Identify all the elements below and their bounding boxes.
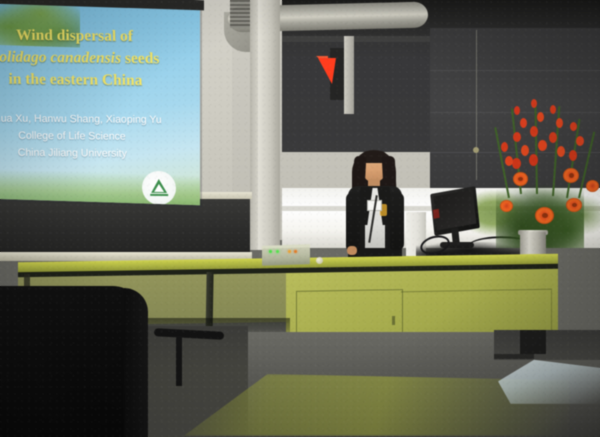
projection-screen: Wind dispersal of Solidago canadensis se… <box>0 3 200 205</box>
rear-doorway <box>520 330 546 354</box>
blind-slat-line <box>430 70 600 71</box>
red-triangle-marker-icon <box>318 58 336 84</box>
presenter-arm-left <box>346 192 360 252</box>
gerbera-bloom <box>586 180 599 192</box>
gerbera-center <box>572 203 577 207</box>
slide-authors-block: Jiehua Xu, Hanwu Shang, Xiaoping Yu Coll… <box>0 110 191 163</box>
gladiolus-floret <box>501 142 508 152</box>
chalkboard-below-screen <box>0 196 250 258</box>
gladiolus-floret <box>531 99 537 108</box>
gladiolus-floret <box>520 118 527 128</box>
gladiolus-floret <box>550 105 556 114</box>
slide-title-line-2-tail: seeds <box>121 50 160 67</box>
gladiolus-floret <box>505 156 513 166</box>
gladiolus-floret <box>549 132 557 143</box>
gladiolus-floret <box>538 140 547 151</box>
gladiolus-floret <box>557 146 565 157</box>
monitor-power-led <box>433 209 440 219</box>
blind-cord-knob[interactable] <box>473 147 479 153</box>
female-presenter <box>336 148 414 266</box>
status-led-orange <box>294 250 297 253</box>
gladiolus-floret <box>514 106 520 115</box>
gerbera-center <box>542 213 548 218</box>
chair-leg <box>176 336 182 386</box>
gladiolus-floret <box>537 112 544 122</box>
presenter-arm-right <box>390 192 404 250</box>
slide-title-line-1: Wind dispersal of <box>0 24 190 48</box>
gladiolus-floret <box>530 126 538 137</box>
gerbera-center <box>518 177 523 181</box>
gladiolus-floret <box>576 136 584 146</box>
logo-base-bar <box>150 194 168 196</box>
blind-cord[interactable] <box>476 30 477 180</box>
slide-affiliation-1: College of Life Science <box>0 127 190 146</box>
slide-affiliation-2: China Jiliang University <box>0 144 191 163</box>
gladiolus-floret <box>556 118 563 128</box>
slide-title-species: Solidago canadensis <box>0 48 121 66</box>
gerbera-bloom <box>500 200 513 212</box>
slide-title: Wind dispersal of Solidago canadensis se… <box>0 24 191 92</box>
floor-skirting <box>494 354 534 359</box>
slide-title-line-2: Solidago canadensis seeds <box>0 46 190 70</box>
desk-knob[interactable] <box>316 257 323 264</box>
slide-title-line-3: in the eastern China <box>0 68 191 92</box>
status-led-green <box>269 250 272 253</box>
monitor-screen <box>433 190 476 231</box>
gerbera-center <box>569 173 574 178</box>
pillar-light-strip <box>344 36 354 114</box>
gladiolus-floret <box>512 158 521 169</box>
lectern-door-handle[interactable] <box>392 316 395 325</box>
status-led-green <box>276 250 279 253</box>
gladiolus-floret <box>569 150 577 161</box>
presenter-hand <box>347 246 357 255</box>
status-led-orange <box>288 250 291 253</box>
chair-back-edge <box>124 288 148 437</box>
university-logo-icon <box>142 171 177 205</box>
logo-inner-triangle-icon <box>154 184 164 192</box>
gladiolus-floret <box>529 154 538 166</box>
structural-pillar <box>258 0 280 250</box>
gladiolus-floret <box>521 145 529 156</box>
gladiolus-floret <box>513 132 521 142</box>
slide-authors: Jiehua Xu, Hanwu Shang, Xiaoping Yu <box>0 110 190 129</box>
gladiolus-floret <box>570 122 577 131</box>
presentation-room-photo: Wind dispersal of Solidago canadensis se… <box>0 0 600 437</box>
